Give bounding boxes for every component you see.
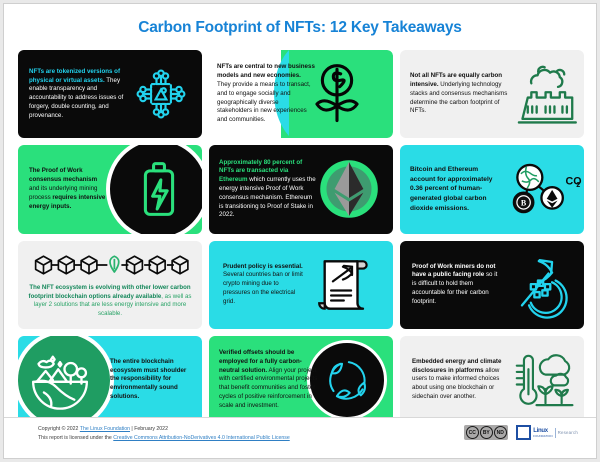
cc-mark-cc: CC	[466, 426, 479, 439]
card-11-text: Verified offsets should be employed for …	[219, 349, 319, 411]
takeaway-card-7[interactable]: The NFT ecosystem is evolving with other…	[18, 241, 202, 329]
takeaway-card-12[interactable]: Embedded energy and climate disclosures …	[400, 336, 584, 424]
card-9-text: Proof of Work miners do not have a publi…	[412, 263, 498, 307]
battery-bolt-icon	[139, 160, 179, 218]
takeaway-card-6[interactable]: Bitcoin and Ethereum account for approxi…	[400, 145, 584, 233]
card-8-rest: Several countries ban or limit crypto mi…	[223, 271, 303, 304]
globe-bitcoin-ethereum-co2-icon: B CO 2	[510, 156, 580, 222]
card-6-text: Bitcoin and Ethereum account for approxi…	[410, 165, 502, 214]
footer: Copyright © 2022 The Linux Foundation | …	[4, 417, 597, 458]
takeaway-card-5[interactable]: Approximately 80 percent of NFTs are tra…	[209, 145, 393, 233]
infographic-poster: Carbon Footprint of NFTs: 12 Key Takeawa…	[3, 3, 597, 459]
microchip-icon	[134, 67, 188, 121]
blockchain-leaf-chain-icon	[30, 251, 190, 279]
factory-smokestack-icon	[508, 62, 576, 126]
takeaway-card-2[interactable]: NFTs are central to new business models …	[209, 50, 393, 138]
card-12-text: Embedded energy and climate disclosures …	[412, 358, 510, 402]
card-1-text: NFTs are tokenized versions of physical …	[29, 68, 125, 121]
linux-foundation-research-logo: Linux FOUNDATION Research	[516, 425, 578, 440]
page-title: Carbon Footprint of NFTs: 12 Key Takeawa…	[4, 20, 596, 36]
card-9-bold: Proof of Work miners do not have a publi…	[412, 263, 495, 279]
money-plant-icon	[307, 62, 367, 126]
policy-scroll-pickaxe-icon	[315, 254, 369, 316]
cc-mark-by: BY	[480, 426, 493, 439]
svg-text:B: B	[521, 199, 527, 208]
takeaway-card-9[interactable]: Proof of Work miners do not have a publi…	[400, 241, 584, 329]
cc-mark-nd: ND	[494, 426, 507, 439]
ethereum-logo-icon	[313, 153, 385, 225]
card-2-rest: They provide a means to transact, and to…	[217, 81, 311, 123]
footer-logos: CC BY ND Linux FOUNDATION Research	[464, 425, 578, 440]
earth-nature-icon	[26, 346, 94, 414]
license-link[interactable]: Creative Commons Attribution-NoDerivativ…	[113, 435, 289, 441]
license-prefix: This report is licensed under the	[38, 435, 113, 441]
card-4-bold: The Proof of Work consensus mechanism	[29, 167, 97, 183]
card-7-text: The NFT ecosystem is evolving with other…	[25, 284, 195, 318]
linux-foundation-link[interactable]: The Linux Foundation	[80, 426, 130, 432]
card-10-bold: The entire blockchain ecosystem must sho…	[110, 358, 186, 400]
lf-divider	[555, 428, 556, 438]
takeaways-grid: NFTs are tokenized versions of physical …	[18, 50, 584, 424]
card-2-text: NFTs are central to new business models …	[217, 63, 315, 125]
takeaway-card-1[interactable]: NFTs are tokenized versions of physical …	[18, 50, 202, 138]
takeaway-card-11[interactable]: Verified offsets should be employed for …	[209, 336, 393, 424]
card-10-text: The entire blockchain ecosystem must sho…	[110, 358, 188, 402]
thermometer-climate-icon	[506, 349, 576, 411]
takeaway-card-4[interactable]: The Proof of Work consensus mechanism an…	[18, 145, 202, 233]
card-3-text: Not all NFTs are equally carbon intensiv…	[410, 72, 510, 116]
card-6-bold: Bitcoin and Ethereum account for approxi…	[410, 166, 492, 213]
pickaxe-mining-icon	[506, 254, 568, 316]
takeaway-card-10[interactable]: The entire blockchain ecosystem must sho…	[18, 336, 202, 424]
svg-text:2: 2	[576, 182, 580, 190]
lf-square-mark	[516, 425, 531, 440]
footer-text: Copyright © 2022 The Linux Foundation | …	[38, 425, 290, 443]
copyright-prefix: Copyright © 2022	[38, 426, 80, 432]
footer-copyright-line: Copyright © 2022 The Linux Foundation | …	[38, 425, 290, 434]
card-5-text: Approximately 80 percent of NFTs are tra…	[219, 159, 317, 221]
takeaway-card-8[interactable]: Prudent policy is essential. Several cou…	[209, 241, 393, 329]
card-2-bold: NFTs are central to new business models …	[217, 63, 315, 79]
card-8-bold: Prudent policy is essential.	[223, 263, 303, 270]
lf-wordmark: Linux FOUNDATION	[533, 428, 552, 438]
copyright-suffix: | February 2022	[130, 426, 168, 432]
card-4-text: The Proof of Work consensus mechanism an…	[29, 167, 107, 211]
takeaway-card-3[interactable]: Not all NFTs are equally carbon intensiv…	[400, 50, 584, 138]
lf-sub: FOUNDATION	[533, 434, 552, 438]
footer-license-line: This report is licensed under the Creati…	[38, 434, 290, 443]
lf-research-label: Research	[558, 430, 578, 435]
recycling-leaves-icon	[325, 357, 371, 403]
card-8-text: Prudent policy is essential. Several cou…	[223, 263, 307, 307]
creative-commons-badge[interactable]: CC BY ND	[464, 425, 508, 440]
